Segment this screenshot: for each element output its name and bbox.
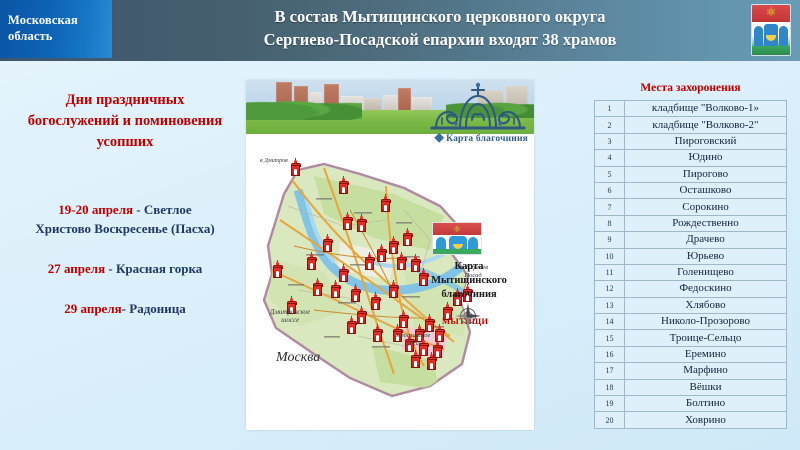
table-row: 1кладбище "Волково-1» (595, 101, 787, 117)
page-title-line1: В состав Мытищинского церковного округа (150, 5, 730, 28)
kokoshnik-ornament-icon (426, 82, 530, 130)
mytishchi-emblem-icon: ⚛ (432, 222, 482, 255)
church-marker[interactable] (338, 266, 349, 282)
map-note-yaroslavskoe-shosse-l2: шоссе (396, 340, 430, 348)
map-legend-line1: Карта (414, 260, 524, 274)
burial-row-number: 8 (595, 215, 625, 231)
table-row: 15Троице-Сельцо (595, 330, 787, 346)
church-marker[interactable] (364, 254, 375, 270)
burial-row-name: Пирогово (625, 166, 787, 182)
map-legend-line2: Мытищинского (414, 274, 524, 288)
table-row: 9Драчево (595, 232, 787, 248)
burial-row-number: 13 (595, 297, 625, 313)
burial-row-name: Еремино (625, 346, 787, 362)
lead-heading-line1: Дни праздничных (8, 90, 242, 111)
burial-row-number: 9 (595, 232, 625, 248)
map-body: в Дмитров Дмитровское шоссе Ярославское … (246, 136, 534, 430)
burial-places-title: Места захоронения (588, 82, 793, 94)
panorama-trees-left (246, 94, 362, 120)
date-event-radonitsa: Радоница (129, 301, 186, 316)
burial-row-number: 12 (595, 281, 625, 297)
table-row: 8Рождественно (595, 215, 787, 231)
table-row: 7Сорокино (595, 199, 787, 215)
date-value-krasnaya-gorka: 27 апреля (48, 261, 105, 276)
date-event-easter-a: Светлое (144, 202, 192, 217)
church-marker[interactable] (342, 214, 353, 230)
burial-row-name: Болтино (625, 396, 787, 412)
burial-row-number: 15 (595, 330, 625, 346)
map-legend-line3: благочиния (414, 288, 524, 302)
burial-row-number: 19 (595, 396, 625, 412)
burial-row-number: 3 (595, 133, 625, 149)
table-row: 11Голенищево (595, 264, 787, 280)
date-item-radonitsa: 29 апреля- Радоница (2, 300, 248, 318)
burial-row-number: 16 (595, 346, 625, 362)
date-event-krasnaya-gorka: Красная горка (116, 261, 202, 276)
church-marker[interactable] (356, 216, 367, 232)
burial-row-number: 7 (595, 199, 625, 215)
map-card: Карта благочиния (246, 80, 534, 430)
burial-row-name: Рождественно (625, 215, 787, 231)
date-value-radonitsa: 29 апреля (64, 301, 121, 316)
lead-heading-line3: усопших (8, 132, 242, 153)
church-marker[interactable] (410, 352, 421, 368)
emblem-griffin-icon: ⚛ (453, 223, 461, 235)
map-note-dmitrov: в Дмитров (260, 158, 288, 164)
burial-row-name: Ховрино (625, 412, 787, 428)
church-marker[interactable] (338, 178, 349, 194)
coa-green-base (752, 46, 790, 55)
table-row: 17Марфино (595, 363, 787, 379)
table-row: 3Пироговский (595, 133, 787, 149)
date-item-radonitsa-line1: 29 апреля- Радоница (8, 300, 242, 318)
region-tab: Московская область (0, 0, 112, 58)
church-marker[interactable] (380, 196, 391, 212)
left-text-column: Дни праздничных богослужений и поминовен… (2, 78, 248, 341)
burial-row-number: 17 (595, 363, 625, 379)
header-band: Московская область В состав Мытищинского… (0, 0, 800, 61)
date-item-krasnaya-gorka: 27 апреля - Красная горка (2, 260, 248, 278)
burial-row-number: 5 (595, 166, 625, 182)
map-legend-title: Карта Мытищинского благочиния (414, 260, 524, 302)
church-marker[interactable] (426, 354, 437, 370)
page-title-line2: Сергиево-Посадской епархии входят 38 хра… (150, 28, 730, 51)
table-row: 12Федоскино (595, 281, 787, 297)
table-row: 6Осташково (595, 182, 787, 198)
map-note-yaroslavskoe-shosse: Ярославское шоссе (396, 332, 430, 348)
region-tab-line1: Московская (8, 13, 112, 29)
table-row: 20Ховрино (595, 412, 787, 428)
church-marker[interactable] (372, 326, 383, 342)
church-marker[interactable] (290, 160, 301, 176)
burial-row-name: Сорокино (625, 199, 787, 215)
slide-root: Московская область В состав Мытищинского… (0, 0, 800, 450)
burial-row-name: Юдино (625, 150, 787, 166)
date-event-easter-b: Христово Воскресенье (Пасха) (8, 220, 242, 238)
table-row: 4Юдино (595, 150, 787, 166)
church-marker[interactable] (396, 254, 407, 270)
burial-row-name: Николо-Прозорово (625, 314, 787, 330)
map-note-dmitrovskoe-shosse-l1: Дмитровское (270, 308, 310, 316)
burial-row-number: 20 (595, 412, 625, 428)
church-marker[interactable] (388, 282, 399, 298)
date-sep-krasnaya-gorka: - (105, 261, 116, 276)
burial-row-number: 6 (595, 182, 625, 198)
burial-places-table: 1кладбище "Волково-1»2кладбище "Волково-… (594, 100, 787, 429)
church-marker[interactable] (322, 236, 333, 252)
church-marker[interactable] (356, 308, 367, 324)
church-marker[interactable] (370, 294, 381, 310)
page-title: В состав Мытищинского церковного округа … (150, 5, 730, 52)
table-row: 14Николо-Прозорово (595, 314, 787, 330)
burial-row-number: 14 (595, 314, 625, 330)
burial-places-table-body: 1кладбище "Волково-1»2кладбище "Волково-… (595, 101, 787, 429)
map-note-yaroslavskoe-shosse-l1: Ярославское (396, 332, 430, 340)
burial-row-number: 4 (595, 150, 625, 166)
table-row: 2кладбище "Волково-2" (595, 117, 787, 133)
map-note-dmitrovskoe-shosse: Дмитровское шоссе (270, 308, 310, 325)
church-marker[interactable] (434, 326, 445, 342)
church-marker[interactable] (272, 262, 283, 278)
date-list: 19-20 апреля - Светлое Христово Воскресе… (2, 201, 248, 319)
date-item-krasnaya-gorka-line1: 27 апреля - Красная горка (8, 260, 242, 278)
burial-row-name: Юрьево (625, 248, 787, 264)
table-row: 10Юрьево (595, 248, 787, 264)
lead-heading-line2: богослужений и поминовения (8, 111, 242, 132)
compass-rose-icon (454, 302, 482, 330)
church-marker[interactable] (346, 318, 357, 334)
map-note-dmitrovskoe-shosse-l2: шоссе (270, 316, 310, 324)
burial-row-number: 1 (595, 101, 625, 117)
date-item-easter: 19-20 апреля - Светлое Христово Воскресе… (2, 201, 248, 238)
burial-row-name: Федоскино (625, 281, 787, 297)
mytishchi-coat-of-arms-icon: ⚛ (751, 4, 791, 56)
date-value-easter: 19-20 апреля (58, 202, 133, 217)
table-row: 16Еремино (595, 346, 787, 362)
burial-row-number: 11 (595, 264, 625, 280)
burial-row-name: Голенищево (625, 264, 787, 280)
panorama-building (398, 88, 411, 112)
coa-griffin-icon: ⚛ (766, 6, 777, 18)
table-row: 13Хлябово (595, 297, 787, 313)
church-marker[interactable] (306, 254, 317, 270)
region-tab-line2: область (8, 29, 112, 45)
burial-places-panel: Места захоронения 1кладбище "Волково-1»2… (588, 82, 793, 429)
emblem-green-base (433, 249, 481, 254)
burial-row-number: 10 (595, 248, 625, 264)
church-marker[interactable] (350, 286, 361, 302)
burial-row-name: Осташково (625, 182, 787, 198)
burial-row-name: Вёшки (625, 379, 787, 395)
date-sep-easter: - (133, 202, 144, 217)
burial-row-name: Хлябово (625, 297, 787, 313)
table-row: 19Болтино (595, 396, 787, 412)
lead-heading: Дни праздничных богослужений и поминовен… (2, 78, 248, 153)
burial-row-name: кладбище "Волково-1» (625, 101, 787, 117)
table-row: 5Пирогово (595, 166, 787, 182)
table-row: 18Вёшки (595, 379, 787, 395)
church-marker[interactable] (330, 282, 341, 298)
church-marker[interactable] (388, 238, 399, 254)
date-item-easter-line1: 19-20 апреля - Светлое (8, 201, 242, 219)
burial-row-name: Драчево (625, 232, 787, 248)
church-marker[interactable] (402, 230, 413, 246)
burial-row-name: Троице-Сельцо (625, 330, 787, 346)
church-marker[interactable] (376, 246, 387, 262)
burial-row-name: кладбище "Волково-2" (625, 117, 787, 133)
burial-row-number: 2 (595, 117, 625, 133)
burial-row-name: Пироговский (625, 133, 787, 149)
map-note-moskva: Москва (276, 350, 320, 366)
church-marker[interactable] (312, 280, 323, 296)
burial-row-name: Марфино (625, 363, 787, 379)
burial-row-number: 18 (595, 379, 625, 395)
